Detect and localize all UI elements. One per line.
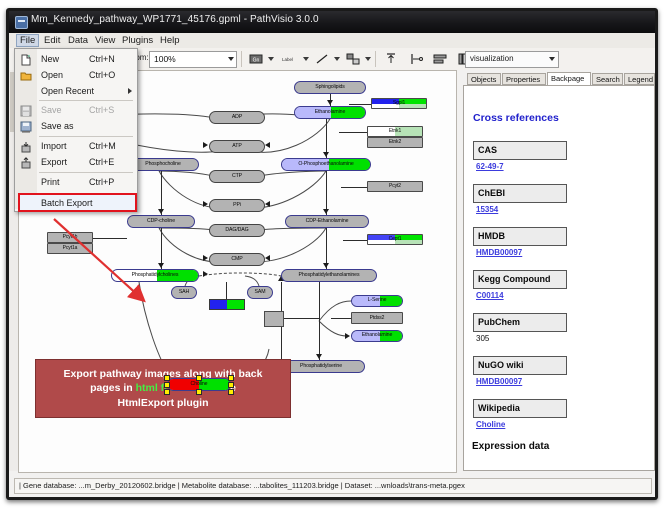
file-menu-print-label: Print xyxy=(41,177,60,187)
export-icon xyxy=(20,156,32,168)
edge-gene-pcyt2 xyxy=(341,187,367,188)
file-menu-new-accel: Ctrl+N xyxy=(89,54,115,64)
file-menu-save: Save Ctrl+S xyxy=(15,102,137,118)
node-label: Ethanolamine xyxy=(362,333,393,338)
db-value-nugo[interactable]: HMDB00097 xyxy=(476,377,522,386)
gene-label: Etnk2 xyxy=(389,140,401,145)
arrow-down-icon xyxy=(327,100,333,105)
tab-objects[interactable]: Objects xyxy=(467,73,501,85)
open-folder-icon xyxy=(20,69,32,81)
selection-handle[interactable] xyxy=(196,389,202,395)
gene-etnk2[interactable]: Etnk2 xyxy=(367,137,423,148)
node-label: CMP xyxy=(231,257,242,262)
file-menu-open[interactable]: Open Ctrl+O xyxy=(15,67,137,83)
file-menu-new-label: New xyxy=(41,54,59,64)
node-cdp-ethanolamine[interactable]: CDP-Ethanolamine xyxy=(285,215,369,228)
file-menu-save-as-label: Save as xyxy=(41,121,74,131)
node-label: Choline xyxy=(191,382,208,387)
gene-etnk1[interactable]: Etnk1 xyxy=(367,126,423,137)
node-label: CDP-Ethanolamine xyxy=(306,219,349,224)
shape-dropdown-icon[interactable] xyxy=(365,57,371,61)
edge-gene-sgpl1 xyxy=(349,104,371,105)
file-menu-open-recent[interactable]: Open Recent xyxy=(15,83,137,99)
node-label: ADP xyxy=(232,115,242,120)
tab-properties[interactable]: Properties xyxy=(502,73,546,85)
menu-view[interactable]: View xyxy=(91,34,119,47)
shape-icon[interactable] xyxy=(346,52,361,66)
edge-gene-cept1 xyxy=(343,240,367,241)
cross-references-title: Cross references xyxy=(473,112,559,124)
db-label-nugo: NuGO wiki xyxy=(473,356,567,375)
selection-handle[interactable] xyxy=(164,375,170,381)
arrow-down-icon xyxy=(316,354,322,359)
line-dropdown-icon[interactable] xyxy=(334,57,340,61)
selection-handle[interactable] xyxy=(164,389,170,395)
node-adp[interactable]: ADP xyxy=(209,111,265,124)
status-bar: | Gene database: ...m_Derby_20120602.bri… xyxy=(9,475,655,497)
label-dropdown-icon[interactable] xyxy=(303,57,309,61)
node-label: DAG/DAG xyxy=(225,228,248,233)
edge-pe-ps xyxy=(319,282,320,360)
node-pemt-gene[interactable] xyxy=(209,299,245,310)
status-bar-box: | Gene database: ...m_Derby_20120602.bri… xyxy=(14,478,652,494)
arrow-right-icon xyxy=(203,271,208,277)
gene-label: Pcyt1b xyxy=(63,235,78,240)
app-icon xyxy=(15,16,28,29)
edge-gene-etnk xyxy=(339,132,367,133)
file-menu-open-recent-label: Open Recent xyxy=(41,86,94,96)
gene-pcyt2[interactable]: Pcyt2 xyxy=(367,181,423,192)
db-value-pubchem: 305 xyxy=(476,334,489,343)
arrow-right-icon xyxy=(203,201,208,207)
gene-label: Sgpl1 xyxy=(393,101,405,106)
menu-help[interactable]: Help xyxy=(156,34,184,47)
import-icon xyxy=(20,140,32,152)
interaction-anchor-box[interactable] xyxy=(264,311,284,327)
chevron-right-icon xyxy=(128,88,132,94)
node-label: CDP-choline xyxy=(147,219,175,224)
db-value-kegg[interactable]: C00114 xyxy=(476,291,504,300)
gene-label: Ptdss2 xyxy=(370,316,385,321)
node-ethanolamine-bottom[interactable]: Ethanolamine xyxy=(351,330,403,342)
zoom-value: 100% xyxy=(154,54,176,64)
node-o-phosphoethanolamine[interactable]: O-Phosphoethanolamine xyxy=(281,158,371,171)
svg-text:Gn: Gn xyxy=(253,58,260,64)
arrow-down-icon xyxy=(323,209,329,214)
node-label: Sphingolipids xyxy=(315,85,345,90)
annotation-line3: HtmlExport plugin xyxy=(118,397,209,409)
file-menu-new[interactable]: New Ctrl+N xyxy=(15,51,137,67)
node-label: L-Serine xyxy=(368,298,387,303)
arrow-down-icon xyxy=(323,263,329,268)
node-sam[interactable]: SAM xyxy=(247,286,273,299)
tab-search[interactable]: Search xyxy=(592,73,623,85)
db-value-hmdb[interactable]: HMDB00097 xyxy=(476,248,522,257)
save-as-icon xyxy=(20,120,32,132)
gene-label: Cept1 xyxy=(389,237,402,242)
window-frame: Mm_Kennedy_pathway_WP1771_45176.gpml - P… xyxy=(6,8,658,500)
node-label: Phosphatidylserine xyxy=(300,364,342,369)
annotation-line2-a: pages in xyxy=(90,382,136,394)
db-value-cas[interactable]: 62-49-7 xyxy=(476,162,504,171)
align-left-icon[interactable] xyxy=(409,52,424,66)
edge-pemt xyxy=(226,282,227,300)
db-label-cas: CAS xyxy=(473,141,567,160)
node-label: Phosphocholine xyxy=(145,162,181,167)
selection-handle[interactable] xyxy=(164,382,170,388)
db-label-chebi: ChEBI xyxy=(473,184,567,203)
menu-edit[interactable]: Edit xyxy=(40,34,64,47)
node-dag[interactable]: DAG/DAG xyxy=(209,224,265,237)
file-menu-print[interactable]: Print Ctrl+P xyxy=(15,174,137,190)
file-menu-export[interactable]: Export Ctrl+E xyxy=(15,154,137,170)
db-label-hmdb: HMDB xyxy=(473,227,567,246)
right-panel: Objects Properties Backpage Search Legen… xyxy=(459,70,655,471)
svg-text:Label: Label xyxy=(282,57,293,62)
arrow-right-icon xyxy=(203,255,208,261)
file-menu-open-label: Open xyxy=(41,70,63,80)
gene-ptdss2[interactable]: Ptdss2 xyxy=(351,312,403,324)
line-icon[interactable] xyxy=(315,52,330,66)
gene-sgpl1[interactable]: Sgpl1 xyxy=(371,98,427,109)
node-atp[interactable]: ATP xyxy=(209,140,265,153)
file-menu-import-label: Import xyxy=(41,141,67,151)
datanode-dropdown-icon[interactable] xyxy=(268,57,274,61)
window-inner: Mm_Kennedy_pathway_WP1771_45176.gpml - P… xyxy=(9,11,655,497)
backpage-content[interactable]: Cross references CAS 62-49-7 ChEBI 15354… xyxy=(463,85,655,471)
tab-legend[interactable]: Legend xyxy=(624,73,655,85)
label-icon[interactable]: Label xyxy=(281,52,296,66)
node-label: Ethanolamine xyxy=(315,110,346,115)
db-value-chebi[interactable]: 15354 xyxy=(476,205,498,214)
db-label-kegg: Kegg Compound xyxy=(473,270,567,289)
file-menu-save-label: Save xyxy=(41,105,62,115)
arrow-down-icon xyxy=(323,152,329,157)
new-file-icon xyxy=(20,53,32,65)
title-bar: Mm_Kennedy_pathway_WP1771_45176.gpml - P… xyxy=(9,11,655,33)
gene-pcyt1b[interactable]: Pcyt1b xyxy=(47,232,93,243)
arrow-down-icon xyxy=(158,209,164,214)
node-l-serine[interactable]: L-Serine xyxy=(351,295,403,307)
node-phosphatidylcholines[interactable]: Phosphatidylcholines xyxy=(111,269,199,282)
node-label: O-Phosphoethanolamine xyxy=(298,162,353,167)
align-top-icon[interactable] xyxy=(384,52,399,66)
node-label: Phosphatidylethanolamines xyxy=(299,273,360,278)
save-disk-icon xyxy=(20,104,32,116)
arrow-left-icon xyxy=(265,201,270,207)
expression-data-title: Expression data xyxy=(472,441,549,452)
visualization-value: visualization xyxy=(470,54,514,63)
node-ctp[interactable]: CTP xyxy=(209,170,265,183)
window-title: Mm_Kennedy_pathway_WP1771_45176.gpml - P… xyxy=(31,14,319,25)
selection-handle[interactable] xyxy=(228,382,234,388)
zoom-select[interactable]: 100% xyxy=(149,51,237,68)
gene-label: Etnk1 xyxy=(389,129,401,134)
db-value-wikipedia[interactable]: Choline xyxy=(476,420,505,429)
node-sphingolipids[interactable]: Sphingolipids xyxy=(294,81,366,94)
gene-label: Pcyt2 xyxy=(389,184,401,189)
menu-file[interactable]: File xyxy=(16,34,39,47)
menu-data[interactable]: Data xyxy=(64,34,92,47)
arrow-left-icon xyxy=(265,255,270,261)
file-menu-print-accel: Ctrl+P xyxy=(89,177,114,187)
db-label-wikipedia: Wikipedia xyxy=(473,399,567,418)
node-label: PPi xyxy=(233,203,241,208)
screenshot-root: Mm_Kennedy_pathway_WP1771_45176.gpml - P… xyxy=(0,0,670,509)
node-label: SAH xyxy=(179,290,189,295)
arrow-down-icon xyxy=(158,263,164,268)
file-menu-save-accel: Ctrl+S xyxy=(89,105,114,115)
node-label: SAM xyxy=(255,290,266,295)
chevron-down-icon xyxy=(228,57,234,61)
node-cmp[interactable]: CMP xyxy=(209,253,265,266)
selection-handle[interactable] xyxy=(196,375,202,381)
node-ethanolamine-top[interactable]: Ethanolamine xyxy=(294,106,366,119)
file-menu-popup: New Ctrl+N Open Ctrl+O Open Recent Save … xyxy=(14,48,138,212)
file-menu-import[interactable]: Import Ctrl+M xyxy=(15,138,137,154)
datanode-icon[interactable]: Gn xyxy=(249,52,264,66)
selection-handle[interactable] xyxy=(228,389,234,395)
arrow-right-icon xyxy=(345,333,350,339)
node-ppi[interactable]: PPi xyxy=(209,199,265,212)
file-menu-batch-export[interactable]: Batch Export xyxy=(15,195,137,211)
file-menu-save-as[interactable]: Save as xyxy=(15,118,137,134)
gene-pcyt1a[interactable]: Pcyt1a xyxy=(47,243,93,254)
annotation-callout: Export pathway images along with back pa… xyxy=(35,359,291,418)
node-cdp-choline[interactable]: CDP-choline xyxy=(127,215,195,228)
distribute-icon[interactable] xyxy=(433,52,448,66)
node-phosphatidylethanolamines[interactable]: Phosphatidylethanolamines xyxy=(281,269,377,282)
gene-label: Pcyt1a xyxy=(63,246,78,251)
selection-handle[interactable] xyxy=(228,375,234,381)
visualization-select[interactable]: visualization xyxy=(465,51,559,68)
edge-gene-ptdss2 xyxy=(331,318,351,319)
arrow-left-icon xyxy=(265,142,270,148)
file-menu-export-label: Export xyxy=(41,157,67,167)
node-label: Phosphatidylcholines xyxy=(132,273,179,278)
file-menu-import-accel: Ctrl+M xyxy=(89,141,116,151)
edge-gene-pcyt1 xyxy=(93,238,127,239)
chevron-down-icon xyxy=(549,57,555,61)
file-menu-open-accel: Ctrl+O xyxy=(89,70,115,80)
menu-plugins[interactable]: Plugins xyxy=(118,34,157,47)
file-menu-export-accel: Ctrl+E xyxy=(89,157,114,167)
tab-backpage[interactable]: Backpage xyxy=(547,72,591,86)
node-label: CTP xyxy=(232,174,242,179)
menu-bar: File Edit Data View Plugins Help xyxy=(9,33,655,49)
arrow-right-icon xyxy=(203,142,208,148)
db-label-pubchem: PubChem xyxy=(473,313,567,332)
gene-cept1[interactable]: Cept1 xyxy=(367,234,423,245)
right-panel-tabs: Objects Properties Backpage Search Legen… xyxy=(463,72,653,86)
file-menu-batch-export-label: Batch Export xyxy=(41,198,93,208)
node-label: ATP xyxy=(232,144,241,149)
status-bar-text: | Gene database: ...m_Derby_20120602.bri… xyxy=(19,481,465,490)
node-sah[interactable]: SAH xyxy=(171,286,197,299)
